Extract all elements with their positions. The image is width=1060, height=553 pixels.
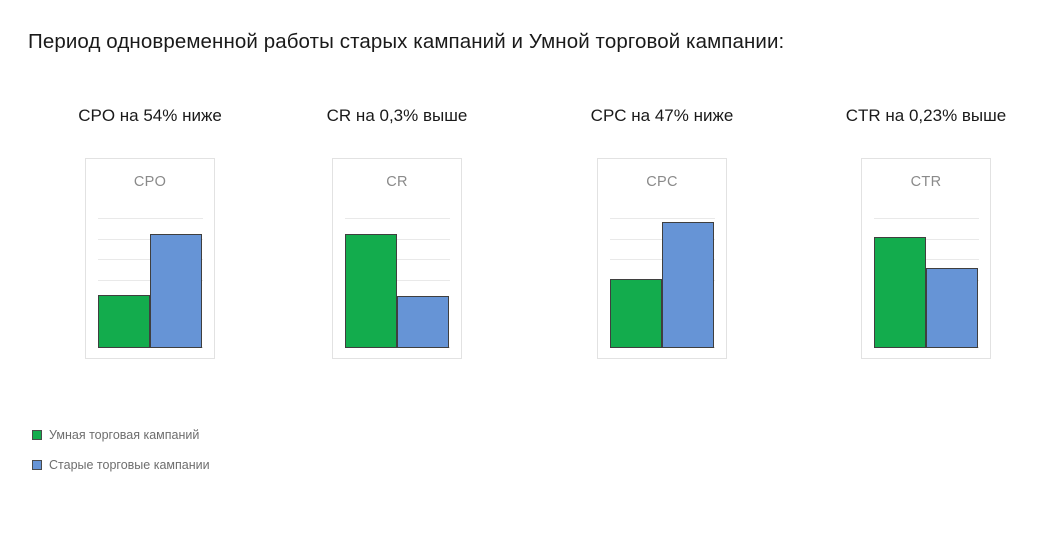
bars-cpo bbox=[98, 207, 203, 348]
legend-item-smart: Умная торговая кампаний bbox=[32, 424, 210, 446]
bars-cr bbox=[345, 207, 450, 348]
panel-caption-ctr: CTR на 0,23% выше bbox=[806, 104, 1046, 128]
bar-smart-ctr bbox=[874, 237, 926, 348]
panel-caption-cpo: CPO на 54% ниже bbox=[30, 104, 270, 128]
bar-smart-cpc bbox=[610, 279, 662, 348]
bar-old-cpo bbox=[150, 234, 202, 348]
chart-card-cpc: CPC bbox=[597, 158, 727, 359]
plot-area-cpc bbox=[598, 207, 728, 348]
bar-smart-cpo bbox=[98, 295, 150, 348]
plot-area-cr bbox=[333, 207, 463, 348]
chart-panel-ctr: CTR на 0,23% выше CTR bbox=[806, 104, 1046, 364]
chart-card-ctr: CTR bbox=[861, 158, 991, 359]
panel-caption-cpc: CPC на 47% ниже bbox=[542, 104, 782, 128]
chart-card-cpo: CPO bbox=[85, 158, 215, 359]
chart-panel-cpo: CPO на 54% ниже CPO bbox=[30, 104, 270, 364]
chart-legend: Умная торговая кампаний Старые торговые … bbox=[32, 424, 210, 484]
slide-root: Период одновременной работы старых кампа… bbox=[0, 0, 1060, 553]
bar-old-cpc bbox=[662, 222, 714, 348]
chart-title-cr: CR bbox=[333, 172, 461, 192]
chart-card-cr: CR bbox=[332, 158, 462, 359]
chart-panel-cpc: CPC на 47% ниже CPC bbox=[542, 104, 782, 364]
legend-swatch-blue-icon bbox=[32, 460, 42, 470]
legend-item-old: Старые торговые кампании bbox=[32, 454, 210, 476]
plot-area-cpo bbox=[86, 207, 216, 348]
panel-caption-cr: CR на 0,3% выше bbox=[277, 104, 517, 128]
chart-title-cpc: CPC bbox=[598, 172, 726, 192]
chart-panel-row: CPO на 54% ниже CPO bbox=[0, 104, 1060, 364]
bar-old-cr bbox=[397, 296, 449, 348]
legend-label-old: Старые торговые кампании bbox=[49, 457, 210, 473]
bar-old-ctr bbox=[926, 268, 978, 348]
bar-smart-cr bbox=[345, 234, 397, 348]
chart-title-cpo: CPO bbox=[86, 172, 214, 192]
chart-panel-cr: CR на 0,3% выше CR bbox=[277, 104, 517, 364]
plot-area-ctr bbox=[862, 207, 992, 348]
bars-cpc bbox=[610, 207, 715, 348]
legend-swatch-green-icon bbox=[32, 430, 42, 440]
page-title: Период одновременной работы старых кампа… bbox=[28, 28, 784, 56]
legend-label-smart: Умная торговая кампаний bbox=[49, 427, 199, 443]
chart-title-ctr: CTR bbox=[862, 172, 990, 192]
bars-ctr bbox=[874, 207, 979, 348]
